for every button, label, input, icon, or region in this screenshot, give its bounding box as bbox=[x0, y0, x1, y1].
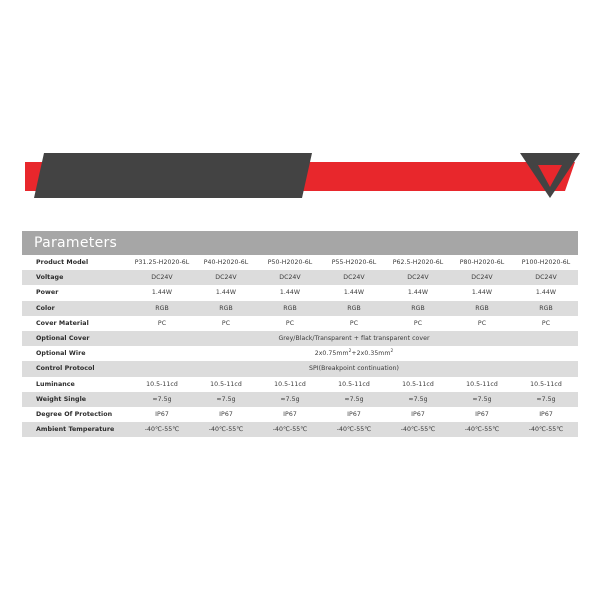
row-value: ≈7.5g bbox=[258, 392, 322, 407]
row-value: ≈7.5g bbox=[194, 392, 258, 407]
row-value: 1.44W bbox=[194, 285, 258, 300]
row-value: RGB bbox=[450, 301, 514, 316]
table-row: Ambient Temperature-40℃-55℃-40℃-55℃-40℃-… bbox=[22, 422, 578, 437]
row-value: ≈7.5g bbox=[322, 392, 386, 407]
table-body: VoltageDC24VDC24VDC24VDC24VDC24VDC24VDC2… bbox=[22, 270, 578, 437]
table-row: Weight Single≈7.5g≈7.5g≈7.5g≈7.5g≈7.5g≈7… bbox=[22, 392, 578, 407]
table-row: Power1.44W1.44W1.44W1.44W1.44W1.44W1.44W bbox=[22, 285, 578, 300]
row-value: DC24V bbox=[386, 270, 450, 285]
column-header-model-2: P40-H2020-6L bbox=[194, 255, 258, 270]
row-value: -40℃-55℃ bbox=[386, 422, 450, 437]
row-merged-value: Grey/Black/Transparent + flat transparen… bbox=[130, 331, 578, 346]
column-header-model-5: P62.5-H2020-6L bbox=[386, 255, 450, 270]
row-value: RGB bbox=[322, 301, 386, 316]
row-value: 10.5-11cd bbox=[258, 377, 322, 392]
row-value: DC24V bbox=[514, 270, 578, 285]
row-value: DC24V bbox=[194, 270, 258, 285]
row-value: RGB bbox=[514, 301, 578, 316]
page-banner: Product parameters bbox=[0, 145, 600, 205]
row-merged-value: 2x0.75mm2+2x0.35mm2 bbox=[130, 346, 578, 361]
row-value: RGB bbox=[386, 301, 450, 316]
table-row: Degree Of ProtectionIP67IP67IP67IP67IP67… bbox=[22, 407, 578, 422]
row-value: IP67 bbox=[514, 407, 578, 422]
row-label: Ambient Temperature bbox=[22, 422, 130, 437]
row-value: DC24V bbox=[130, 270, 194, 285]
row-value: 1.44W bbox=[450, 285, 514, 300]
row-value: 10.5-11cd bbox=[130, 377, 194, 392]
row-value: -40℃-55℃ bbox=[258, 422, 322, 437]
product-parameters-table: Parameters Product Model P31.25-H2020-6L… bbox=[22, 231, 578, 437]
table-section-header: Parameters bbox=[22, 231, 578, 255]
row-value: 10.5-11cd bbox=[322, 377, 386, 392]
column-header-model-1: P31.25-H2020-6L bbox=[130, 255, 194, 270]
row-value: 10.5-11cd bbox=[450, 377, 514, 392]
row-value: 10.5-11cd bbox=[386, 377, 450, 392]
row-label: Weight Single bbox=[22, 392, 130, 407]
row-label: Power bbox=[22, 285, 130, 300]
table-row: Optional Wire2x0.75mm2+2x0.35mm2 bbox=[22, 346, 578, 361]
row-value: -40℃-55℃ bbox=[130, 422, 194, 437]
row-label: Cover Material bbox=[22, 316, 130, 331]
row-value: -40℃-55℃ bbox=[450, 422, 514, 437]
row-value: PC bbox=[450, 316, 514, 331]
row-value: PC bbox=[322, 316, 386, 331]
row-value: RGB bbox=[130, 301, 194, 316]
row-value: IP67 bbox=[386, 407, 450, 422]
row-value: 1.44W bbox=[386, 285, 450, 300]
table-section-header-row: Parameters bbox=[22, 231, 578, 255]
table-row: Cover MaterialPCPCPCPCPCPCPC bbox=[22, 316, 578, 331]
row-label: Control Protocol bbox=[22, 361, 130, 376]
row-value: 1.44W bbox=[258, 285, 322, 300]
row-label: Degree Of Protection bbox=[22, 407, 130, 422]
table-row: VoltageDC24VDC24VDC24VDC24VDC24VDC24VDC2… bbox=[22, 270, 578, 285]
row-value: ≈7.5g bbox=[130, 392, 194, 407]
row-value: 10.5-11cd bbox=[194, 377, 258, 392]
table-row: Optional CoverGrey/Black/Transparent + f… bbox=[22, 331, 578, 346]
row-value: 1.44W bbox=[322, 285, 386, 300]
column-header-model-3: P50-H2020-6L bbox=[258, 255, 322, 270]
column-header-model-7: P100-H2020-6L bbox=[514, 255, 578, 270]
row-label: Color bbox=[22, 301, 130, 316]
table-row: Control ProtocolSPI(Breakpoint continuat… bbox=[22, 361, 578, 376]
row-value: DC24V bbox=[450, 270, 514, 285]
banner-dark-plate bbox=[34, 153, 312, 198]
row-label: Voltage bbox=[22, 270, 130, 285]
row-value: 1.44W bbox=[514, 285, 578, 300]
row-value: ≈7.5g bbox=[450, 392, 514, 407]
row-label: Optional Wire bbox=[22, 346, 130, 361]
row-value: 1.44W bbox=[130, 285, 194, 300]
row-label: Luminance bbox=[22, 377, 130, 392]
column-header-product-model: Product Model bbox=[22, 255, 130, 270]
row-value: -40℃-55℃ bbox=[322, 422, 386, 437]
row-value: PC bbox=[194, 316, 258, 331]
row-value: IP67 bbox=[130, 407, 194, 422]
table-row: ColorRGBRGBRGBRGBRGBRGBRGB bbox=[22, 301, 578, 316]
row-value: 10.5-11cd bbox=[514, 377, 578, 392]
row-value: DC24V bbox=[258, 270, 322, 285]
row-value: PC bbox=[258, 316, 322, 331]
row-label: Optional Cover bbox=[22, 331, 130, 346]
row-value: RGB bbox=[194, 301, 258, 316]
row-value: PC bbox=[514, 316, 578, 331]
table-row: Luminance10.5-11cd10.5-11cd10.5-11cd10.5… bbox=[22, 377, 578, 392]
product-parameters-table-container: Parameters Product Model P31.25-H2020-6L… bbox=[22, 231, 578, 437]
row-value: IP67 bbox=[322, 407, 386, 422]
row-value: IP67 bbox=[450, 407, 514, 422]
row-value: PC bbox=[386, 316, 450, 331]
row-value: DC24V bbox=[322, 270, 386, 285]
row-value: ≈7.5g bbox=[386, 392, 450, 407]
row-value: -40℃-55℃ bbox=[194, 422, 258, 437]
row-value: PC bbox=[130, 316, 194, 331]
row-value: -40℃-55℃ bbox=[514, 422, 578, 437]
row-merged-value: SPI(Breakpoint continuation) bbox=[130, 361, 578, 376]
banner-graphic bbox=[0, 145, 600, 205]
row-value: IP67 bbox=[194, 407, 258, 422]
column-header-model-4: P55-H2020-6L bbox=[322, 255, 386, 270]
column-header-model-6: P80-H2020-6L bbox=[450, 255, 514, 270]
row-value: ≈7.5g bbox=[514, 392, 578, 407]
row-value: RGB bbox=[258, 301, 322, 316]
table-column-header-row: Product Model P31.25-H2020-6L P40-H2020-… bbox=[22, 255, 578, 270]
row-value: IP67 bbox=[258, 407, 322, 422]
